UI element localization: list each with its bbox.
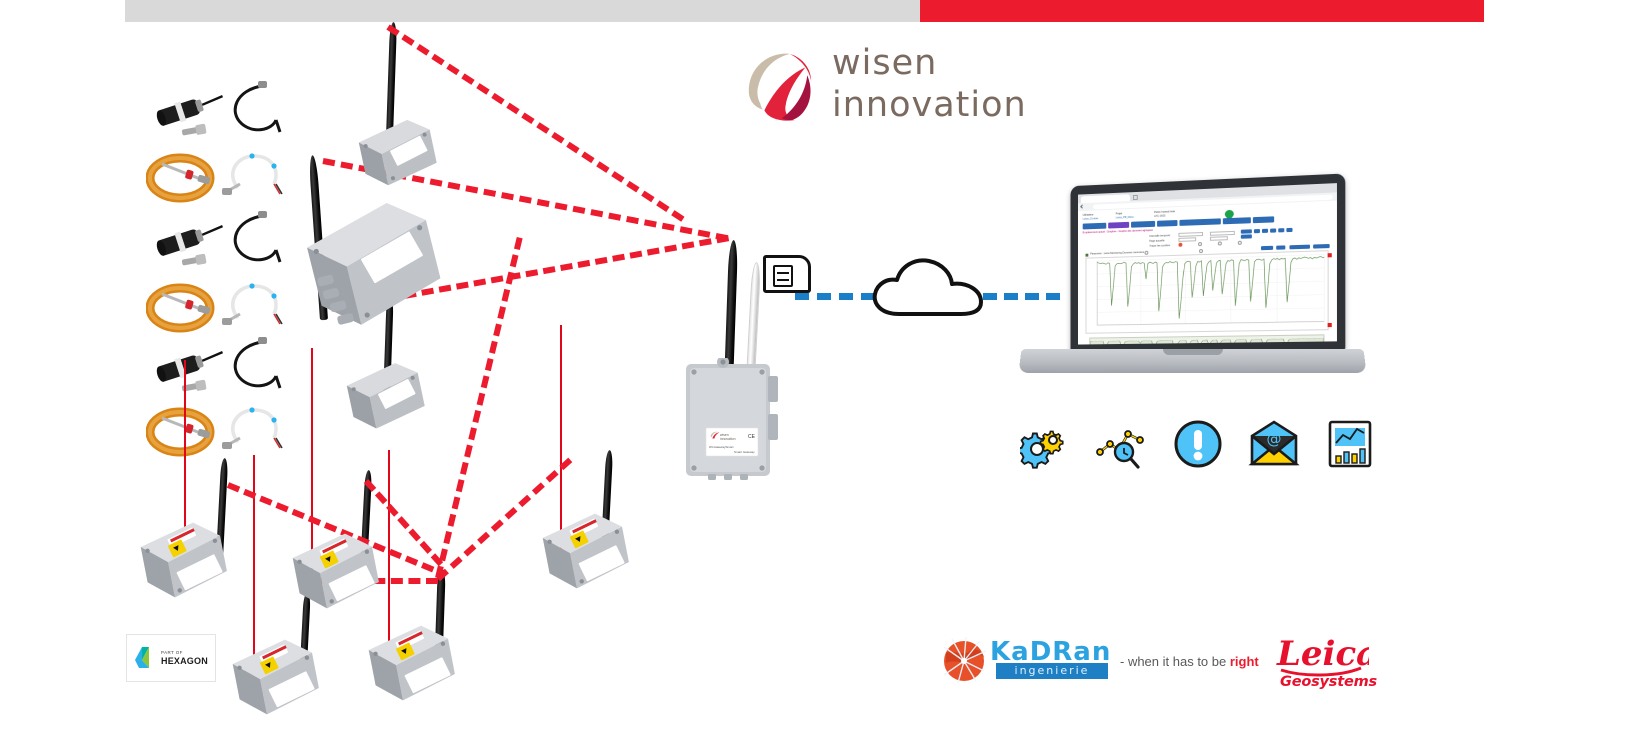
- diagram-canvas: wisen innovation: [0, 0, 1640, 750]
- internet-link-left: [795, 293, 875, 300]
- wireless-node-warning-bottom-center: [364, 620, 460, 706]
- kadran-subtitle: ingenierie: [996, 663, 1108, 679]
- laptop-trackpad-notch: [1163, 349, 1223, 355]
- new-tab-button[interactable]: [1133, 194, 1138, 199]
- integrated-data-radio[interactable]: [1199, 249, 1203, 253]
- curve-radio-selected[interactable]: [1178, 243, 1182, 247]
- page-apply-button[interactable]: [1241, 234, 1252, 238]
- hexagon-wordmark: HEXAGON: [161, 656, 208, 666]
- nav-btn-5[interactable]: [1223, 217, 1251, 224]
- chart-handle-top[interactable]: [1328, 253, 1332, 257]
- nav-btn-6[interactable]: [1253, 216, 1274, 223]
- curve-radio-3[interactable]: [1218, 241, 1222, 245]
- leica-logo: Leica Geosystems: [1273, 633, 1369, 691]
- wisen-line-2: innovation: [832, 84, 1027, 126]
- black-cable: [222, 210, 284, 268]
- white-cable: [222, 274, 286, 332]
- black-cable: [222, 336, 284, 394]
- white-cable: [222, 398, 286, 456]
- top-bar-red: [920, 0, 1484, 22]
- chart-plot-area: [1086, 251, 1327, 333]
- range-quick-1m[interactable]: [1278, 228, 1284, 232]
- listing-toggle[interactable]: [1261, 246, 1273, 250]
- wisen-wordmark: wisen innovation: [832, 42, 1027, 126]
- laptop-screen[interactable]: Utilisateur Leica_Croisee Projet Leica_P…: [1078, 183, 1337, 344]
- tagline-highlight: right: [1230, 654, 1259, 669]
- svg-text:Leica: Leica: [1276, 634, 1369, 674]
- chart-legend-swatch: [1086, 254, 1089, 257]
- leica-geosystems-label: Geosystems: [1280, 674, 1377, 690]
- chart-minimap-plot: [1090, 337, 1323, 344]
- nav-btn-1[interactable]: [1108, 222, 1129, 229]
- wisen-line-1: wisen: [832, 42, 1027, 84]
- range-quick-3h[interactable]: [1262, 229, 1268, 233]
- svg-text:WI-GatewaySmart: WI-GatewaySmart: [709, 445, 734, 449]
- cloud: [869, 252, 991, 322]
- leica-script-wordmark: Leica: [1273, 633, 1369, 677]
- curve-radio-4[interactable]: [1238, 241, 1242, 245]
- field-value-user[interactable]: Leica_Croisee: [1083, 217, 1099, 221]
- smart-gateway: wisen innovation CE WI-GatewaySmart Smar…: [682, 358, 782, 480]
- curve-label: Tracer les courbes: [1149, 244, 1170, 248]
- range-quick-1y[interactable]: [1286, 228, 1292, 232]
- svg-text:CE: CE: [748, 434, 756, 440]
- range-label: Intervalle temporel: [1149, 234, 1170, 238]
- svg-text:@: @: [1267, 430, 1282, 448]
- page-value-input[interactable]: [1178, 237, 1196, 242]
- svg-text:Smart Gateway: Smart Gateway: [734, 450, 755, 454]
- orange-coiled-cable-sensor: [146, 278, 222, 334]
- nav-btn-2[interactable]: [1131, 221, 1155, 228]
- range-to-input[interactable]: [1210, 231, 1235, 236]
- web-app: Utilisateur Leica_Croisee Projet Leica_P…: [1078, 201, 1337, 345]
- email-icon[interactable]: @: [1248, 418, 1300, 470]
- page-value2-input[interactable]: [1210, 236, 1228, 241]
- export-csv-button[interactable]: [1313, 244, 1330, 249]
- feature-icon-row: @: [1020, 418, 1376, 470]
- laptop-dashboard: Utilisateur Leica_Croisee Projet Leica_P…: [1020, 180, 1365, 405]
- field-value-node: LPC-0005: [1154, 215, 1165, 218]
- wireless-node-warning-left: [136, 517, 232, 603]
- range-quick-1d[interactable]: [1254, 229, 1260, 233]
- wireless-node-warning-right: [538, 508, 634, 594]
- field-value-project[interactable]: Leica_PB_Mesu: [1116, 216, 1134, 220]
- help-toggle[interactable]: [1276, 245, 1285, 249]
- hexagon-badge: PART OF HEXAGON: [126, 634, 216, 682]
- curve-radio-2[interactable]: [1198, 242, 1202, 246]
- alert-icon[interactable]: [1172, 418, 1224, 470]
- nav-btn-3[interactable]: [1157, 220, 1177, 227]
- chart-handle-bottom[interactable]: [1328, 323, 1332, 327]
- sensor-catalog-column: [140, 70, 300, 450]
- field-label-project: Projet: [1116, 212, 1122, 215]
- sim-card: [763, 255, 811, 293]
- analysis-magnifier-icon[interactable]: [1096, 418, 1148, 470]
- export-chart-button[interactable]: [1289, 245, 1310, 250]
- wisen-logo: wisen innovation: [740, 42, 1030, 134]
- laptop-lid: Utilisateur Leica_Croisee Projet Leica_P…: [1071, 173, 1346, 353]
- wireless-node-small-upper: [352, 115, 440, 193]
- back-icon[interactable]: [1080, 205, 1084, 209]
- measurement-chart[interactable]: [1086, 250, 1329, 334]
- tagline-prefix: - when it has to be: [1120, 654, 1230, 669]
- kadran-logo: KaDRan ingenierie: [940, 635, 1110, 683]
- wireless-node-small-middle: [340, 358, 430, 436]
- range-from-input[interactable]: [1178, 232, 1203, 237]
- wireless-node-warning-bottom-left: [228, 634, 324, 720]
- nav-btn-0[interactable]: [1083, 223, 1107, 230]
- field-label-user: Utilisateur: [1083, 213, 1094, 216]
- wireless-node-large-multichannel: [300, 198, 448, 338]
- kadran-tagline: - when it has to be right: [1120, 654, 1259, 669]
- field-label-node: Poste /noeud /voie: [1154, 210, 1175, 214]
- range-quick-1w[interactable]: [1270, 228, 1276, 232]
- gears-icon[interactable]: [1020, 418, 1072, 470]
- orange-coiled-cable-sensor: [146, 148, 222, 204]
- sim-chip-icon: [773, 265, 793, 287]
- wisen-swirl-mark: [740, 48, 818, 124]
- range-apply-button[interactable]: [1241, 229, 1252, 233]
- black-cable: [222, 80, 284, 138]
- chart-minimap[interactable]: [1089, 334, 1324, 344]
- raw-data-radio[interactable]: [1144, 251, 1148, 255]
- chart-legend-label: Parametre : Leica Monitoring Donnees mes…: [1090, 251, 1144, 256]
- hexagon-leaf-icon: [134, 646, 156, 670]
- kadran-globe-icon: [940, 637, 988, 683]
- nav-btn-4[interactable]: [1179, 218, 1220, 226]
- report-chart-icon[interactable]: [1324, 418, 1376, 470]
- app-nav-buttons[interactable]: [1083, 216, 1274, 229]
- top-bar-grey: [125, 0, 920, 22]
- white-cable: [222, 144, 286, 202]
- svg-text:innovation: innovation: [720, 437, 736, 441]
- wireless-node-warning-center: [288, 528, 384, 614]
- page-label: Page actuelle: [1149, 239, 1164, 242]
